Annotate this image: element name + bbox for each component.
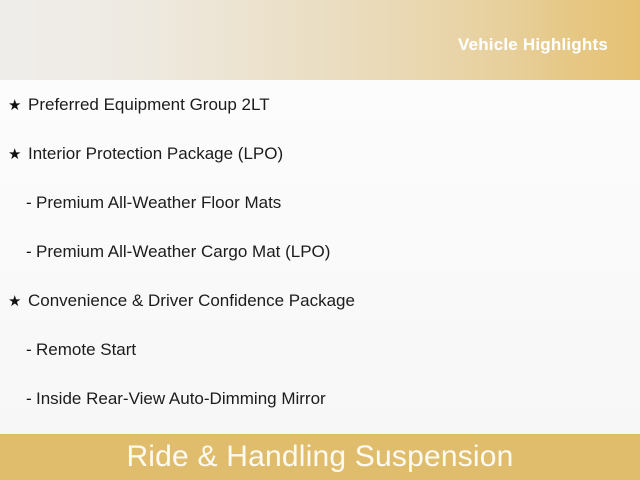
list-item: ★ Convenience & Driver Confidence Packag… [0, 276, 640, 325]
slide-footer: Ride & Handling Suspension [0, 434, 640, 480]
list-sub-item: - Remote Start [0, 325, 640, 374]
dash-bullet-icon: - [26, 325, 36, 374]
list-sub-item: - Premium All-Weather Floor Mats [0, 178, 640, 227]
highlights-content: ★ Preferred Equipment Group 2LT ★ Interi… [0, 80, 640, 434]
list-item-label: Interior Protection Package (LPO) [28, 129, 283, 178]
dash-bullet-icon: - [26, 374, 36, 423]
page-title: Vehicle Highlights [458, 25, 640, 55]
list-sub-item-label: Premium All-Weather Floor Mats [36, 178, 281, 227]
highlights-list: ★ Preferred Equipment Group 2LT ★ Interi… [0, 80, 640, 423]
list-item-label: Preferred Equipment Group 2LT [28, 80, 270, 129]
star-bullet-icon: ★ [8, 130, 28, 179]
list-item: ★ Preferred Equipment Group 2LT [0, 80, 640, 129]
list-sub-item-label: Inside Rear-View Auto-Dimming Mirror [36, 374, 326, 423]
footer-title: Ride & Handling Suspension [126, 434, 513, 480]
star-bullet-icon: ★ [8, 81, 28, 130]
list-sub-item-label: Remote Start [36, 325, 136, 374]
slide-header: Vehicle Highlights [0, 0, 640, 80]
vehicle-highlights-slide: Vehicle Highlights ★ Preferred Equipment… [0, 0, 640, 480]
list-sub-item: - Inside Rear-View Auto-Dimming Mirror [0, 374, 640, 423]
list-sub-item-label: Premium All-Weather Cargo Mat (LPO) [36, 227, 330, 276]
dash-bullet-icon: - [26, 227, 36, 276]
list-item: ★ Interior Protection Package (LPO) [0, 129, 640, 178]
dash-bullet-icon: - [26, 178, 36, 227]
list-sub-item: - Premium All-Weather Cargo Mat (LPO) [0, 227, 640, 276]
star-bullet-icon: ★ [8, 277, 28, 326]
list-item-label: Convenience & Driver Confidence Package [28, 276, 355, 325]
